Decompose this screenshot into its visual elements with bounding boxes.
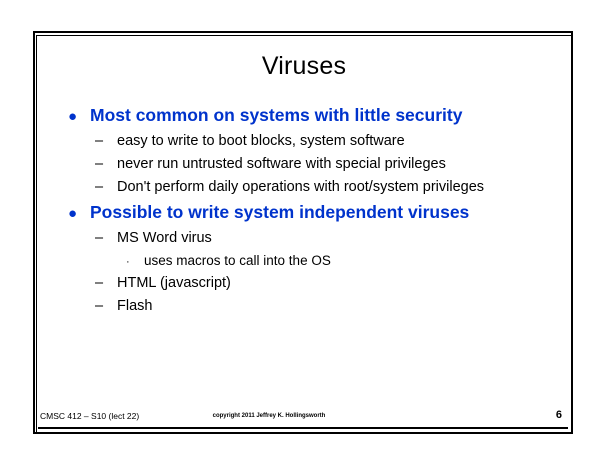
bullet-dash-icon: –	[95, 156, 117, 172]
footer-copyright-label: copyright 2011 Jeffrey K. Hollingsworth	[38, 413, 500, 419]
footer-page-number: 6	[556, 409, 562, 421]
bullet-dash-icon: –	[95, 230, 117, 246]
bullet-level1: ● Most common on systems with little sec…	[36, 105, 572, 131]
bullet-dash-icon: –	[95, 133, 117, 149]
bullet-dash-icon: –	[95, 298, 117, 314]
bullet-text: Most common on systems with little secur…	[90, 105, 462, 126]
bullet-level1: ● Possible to write system independent v…	[36, 202, 572, 228]
slide-footer: CMSC 412 – S10 (lect 22) copyright 2011 …	[38, 411, 568, 429]
bullet-text: uses macros to call into the OS	[144, 253, 331, 268]
bullet-dash-icon: –	[95, 275, 117, 291]
bullet-text: Flash	[117, 298, 152, 314]
bullet-text: MS Word virus	[117, 230, 212, 246]
bullet-text: Possible to write system independent vir…	[90, 202, 469, 223]
bullet-level2: – easy to write to boot blocks, system s…	[36, 133, 572, 156]
slide-bullet-list: ● Most common on systems with little sec…	[36, 105, 572, 321]
slide: Viruses ● Most common on systems with li…	[36, 35, 572, 433]
bullet-text: never run untrusted software with specia…	[117, 156, 446, 172]
bullet-text: easy to write to boot blocks, system sof…	[117, 133, 405, 149]
bullet-disc-icon: ●	[68, 206, 90, 221]
bullet-dot-icon: ·	[126, 256, 144, 268]
bullet-disc-icon: ●	[68, 109, 90, 124]
bullet-level2: – HTML (javascript)	[36, 275, 572, 298]
bullet-level2: – Don't perform daily operations with ro…	[36, 179, 572, 202]
bullet-level3: · uses macros to call into the OS	[36, 253, 572, 275]
bullet-text: HTML (javascript)	[117, 275, 231, 291]
bullet-text: Don't perform daily operations with root…	[117, 179, 484, 195]
bullet-level2: – Flash	[36, 298, 572, 321]
slide-title: Viruses	[36, 52, 572, 81]
bullet-level2: – never run untrusted software with spec…	[36, 156, 572, 179]
bullet-dash-icon: –	[95, 179, 117, 195]
bullet-level2: – MS Word virus	[36, 230, 572, 253]
